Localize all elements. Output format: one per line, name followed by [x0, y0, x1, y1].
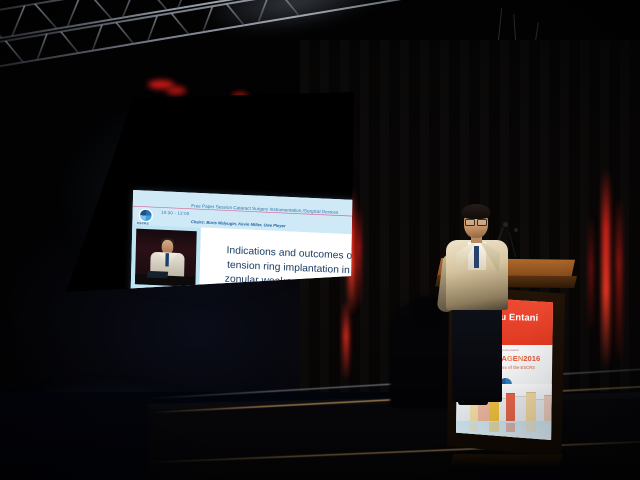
speaker-thumbnail-photo [135, 229, 197, 287]
lectern-brand-year: 2016 [523, 354, 540, 363]
session-time: 10:30 - 12:00 [161, 210, 189, 216]
red-light-streak-2 [356, 206, 361, 310]
eyeglasses-icon [465, 219, 487, 224]
speaker-hair [462, 204, 490, 219]
speaker-person [440, 206, 520, 406]
red-light-streak-6 [589, 214, 593, 334]
speaker-lower-body [452, 306, 502, 402]
speaker-shoe [458, 396, 488, 405]
red-light-streak-3 [343, 300, 349, 380]
conference-stage-photo: ESCRS 10:30 - 12:00 Free Paper Session C… [0, 0, 640, 480]
lectern-base [451, 454, 563, 466]
speaker-tie [474, 246, 479, 268]
red-light-streak-4 [602, 168, 610, 368]
red-light-streak-5 [616, 196, 622, 366]
projection-screen: ESCRS 10:30 - 12:00 Free Paper Session C… [62, 92, 354, 292]
